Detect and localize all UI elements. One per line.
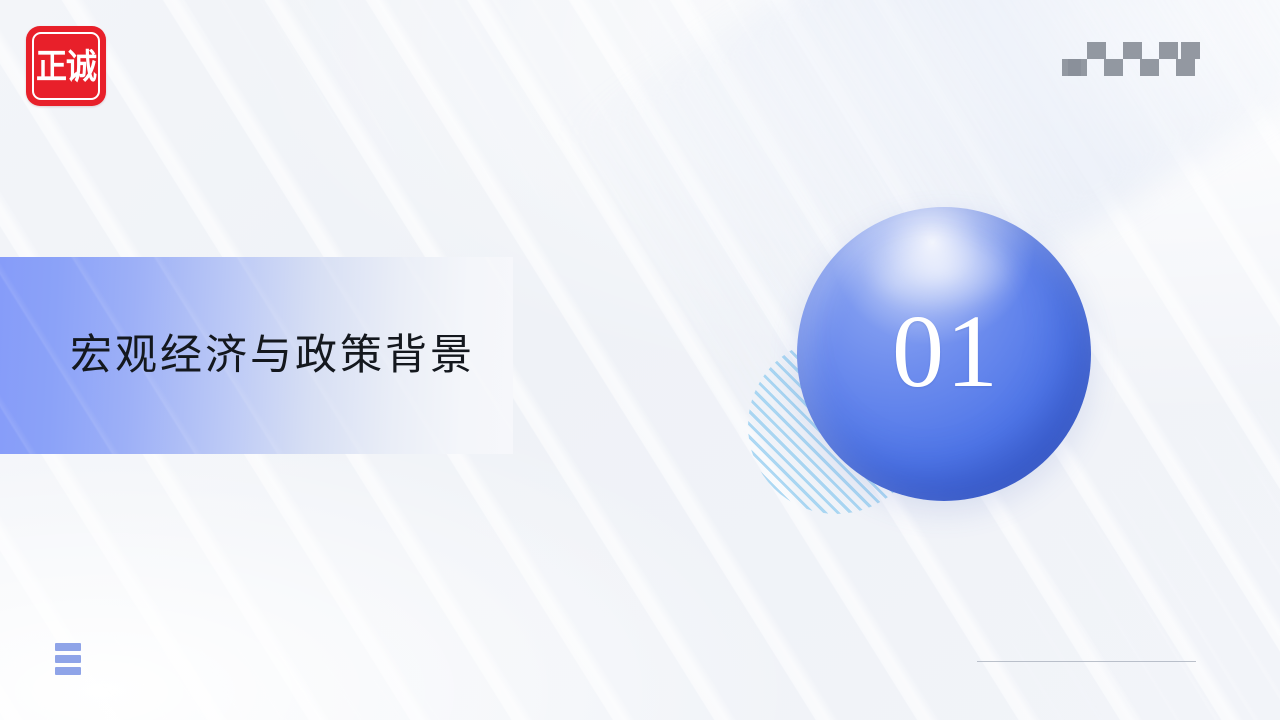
- zigzag-block: [1123, 42, 1142, 59]
- zigzag-block: [1176, 59, 1195, 76]
- zigzag-block: [1159, 42, 1178, 59]
- list-line-bar: [55, 667, 81, 675]
- zigzag-block: [1140, 59, 1159, 76]
- slide-canvas: 正诚 宏观经济与政策背景 01: [0, 0, 1280, 720]
- zigzag-block: [1104, 59, 1123, 76]
- logo-text: 正诚: [36, 49, 96, 84]
- section-title: 宏观经济与政策背景: [70, 332, 475, 378]
- zigzag-block: [1087, 42, 1106, 59]
- zigzag-block: [1181, 42, 1200, 59]
- list-lines-icon: [55, 643, 81, 675]
- zigzag-blocks-decoration: [1068, 42, 1200, 76]
- footer-divider-line: [977, 661, 1196, 662]
- company-logo: 正诚: [26, 26, 106, 106]
- list-line-bar: [55, 655, 81, 663]
- zigzag-block: [1062, 59, 1081, 76]
- section-number-sphere: 01: [797, 207, 1091, 501]
- section-title-band: 宏观经济与政策背景: [0, 257, 513, 454]
- list-line-bar: [55, 643, 81, 651]
- section-number: 01: [797, 207, 1091, 501]
